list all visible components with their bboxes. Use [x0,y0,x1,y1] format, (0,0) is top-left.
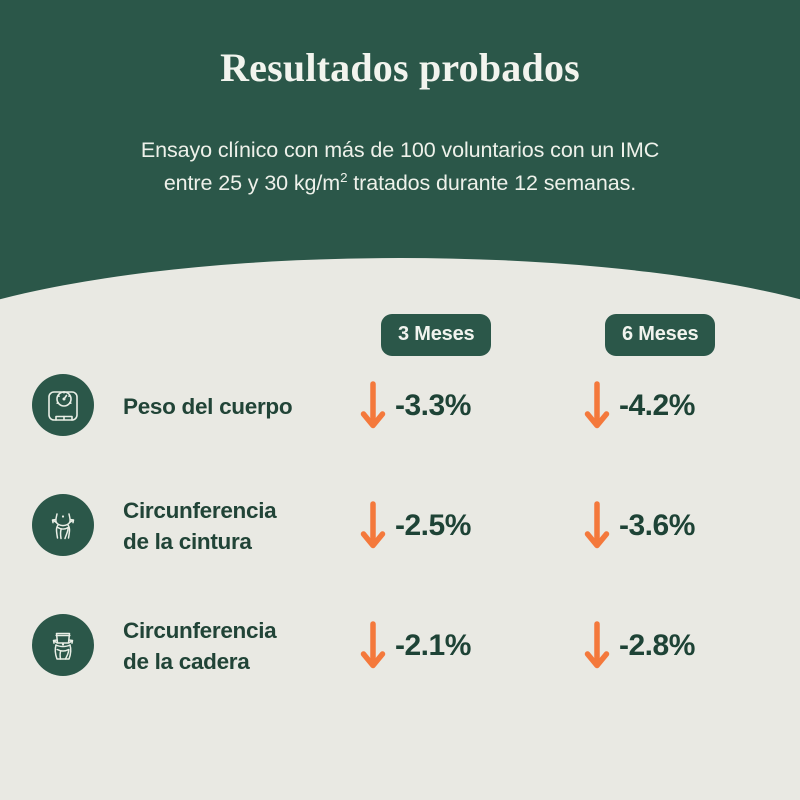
metric-3-meses: -2.5% [360,476,471,576]
arrow-down-icon [360,500,386,552]
metric-value: -2.1% [395,629,471,663]
arrow-down-icon [360,620,386,672]
metric-6-meses: -2.8% [584,596,695,696]
subtitle-line-1: Ensayo clínico con más de 100 voluntario… [141,138,659,162]
arrow-down-icon [584,380,610,432]
row-label: Peso del cuerpo [123,356,358,456]
results-table: 3 Meses 6 Meses Peso del cuerpo [0,300,800,716]
metric-3-meses: -3.3% [360,356,471,456]
subtitle-line-2-pre: entre 25 y 30 kg/m [164,171,340,195]
metric-value: -3.3% [395,389,471,423]
column-header-row: 3 Meses 6 Meses [0,300,800,356]
metric-6-meses: -3.6% [584,476,695,576]
metric-value: -2.8% [619,629,695,663]
row-label-line-1: Peso del cuerpo [123,391,358,422]
column-header-6-meses: 6 Meses [605,314,715,356]
subtitle-line-2: entre 25 y 30 kg/m2 tratados durante 12 … [0,167,800,200]
arrow-down-icon [360,380,386,432]
row-label: Circunferencia de la cintura [123,476,358,576]
subtitle-line-2-post: tratados durante 12 semanas. [347,171,636,195]
column-header-3-meses: 3 Meses [381,314,491,356]
waist-circumference-icon [32,494,94,556]
metric-value: -3.6% [619,509,695,543]
page-subtitle: Ensayo clínico con más de 100 voluntario… [0,134,800,200]
row-label-line-1: Circunferencia [123,615,358,646]
arrow-down-icon [584,620,610,672]
metric-3-meses: -2.1% [360,596,471,696]
page-title: Resultados probados [0,44,800,91]
hip-circumference-icon [32,614,94,676]
metric-6-meses: -4.2% [584,356,695,456]
table-row: Peso del cuerpo -3.3% -4.2% [0,356,800,476]
row-label-line-2: de la cintura [123,526,358,557]
arrow-down-icon [584,500,610,552]
row-label: Circunferencia de la cadera [123,596,358,696]
metric-value: -2.5% [395,509,471,543]
row-label-line-1: Circunferencia [123,495,358,526]
row-label-line-2: de la cadera [123,646,358,677]
infographic-root: Resultados probados Ensayo clínico con m… [0,0,800,800]
table-row: Circunferencia de la cintura -2.5% -3.6% [0,476,800,596]
metric-value: -4.2% [619,389,695,423]
weight-scale-icon [32,374,94,436]
header: Resultados probados Ensayo clínico con m… [0,0,800,300]
table-row: Circunferencia de la cadera -2.1% -2.8% [0,596,800,716]
